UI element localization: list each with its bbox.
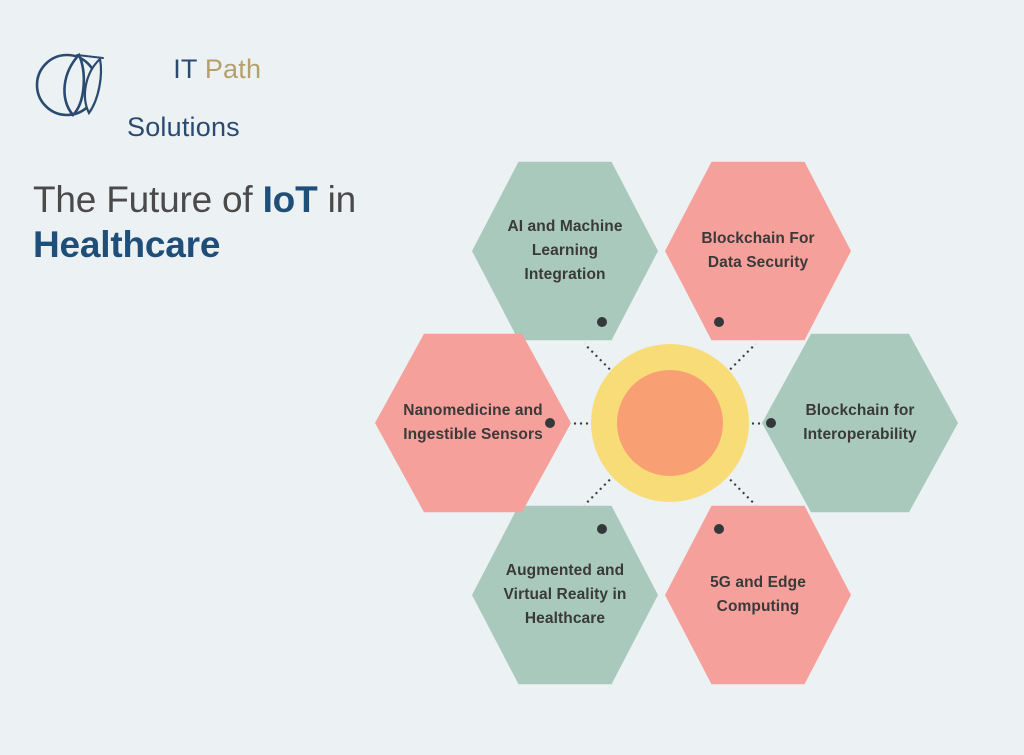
node-label: Nanomedicine and Ingestible Sensors (397, 399, 549, 447)
connector-dot-nanomedicine (545, 418, 555, 428)
node-ar-vr-healthcare[interactable]: Augmented and Virtual Reality in Healthc… (472, 502, 658, 688)
title-part-healthcare: Healthcare (33, 224, 220, 265)
connector-dot-ar-vr (597, 524, 607, 534)
connector-dot-5g-edge (714, 524, 724, 534)
node-label: AI and Machine Learning Integration (494, 215, 636, 287)
node-nanomedicine-sensors[interactable]: Nanomedicine and Ingestible Sensors (375, 330, 571, 516)
title-part-the-future-of: The Future of (33, 179, 263, 220)
node-blockchain-data-security[interactable]: Blockchain For Data Security (665, 158, 851, 344)
center-hub-outer-circle (591, 344, 749, 502)
node-5g-edge-computing[interactable]: 5G and Edge Computing (665, 502, 851, 688)
logo-wordmark: IT Path Solutions (127, 26, 261, 143)
node-label: 5G and Edge Computing (687, 571, 829, 619)
hexagon-hub-diagram: AI and Machine Learning Integration Bloc… (360, 150, 980, 720)
node-ai-ml[interactable]: AI and Machine Learning Integration (472, 158, 658, 344)
logo-text-it: IT (173, 54, 205, 84)
node-label: Blockchain For Data Security (687, 227, 829, 275)
brand-logo[interactable]: IT Path Solutions (33, 26, 261, 143)
it-path-solutions-logo-mark (33, 45, 117, 123)
logo-text-path: Path (205, 54, 261, 84)
title-part-iot: IoT (263, 179, 318, 220)
connector-dot-blockchain-data-security (714, 317, 724, 327)
center-hub-inner-circle (617, 370, 723, 476)
node-label: Augmented and Virtual Reality in Healthc… (494, 559, 636, 631)
node-blockchain-interoperability[interactable]: Blockchain for Interoperability (762, 330, 958, 516)
logo-text-solutions: Solutions (127, 113, 261, 142)
node-label: Blockchain for Interoperability (784, 399, 936, 447)
connector-dot-blockchain-interoperability (766, 418, 776, 428)
connector-dot-ai-ml (597, 317, 607, 327)
title-part-in: in (317, 179, 355, 220)
